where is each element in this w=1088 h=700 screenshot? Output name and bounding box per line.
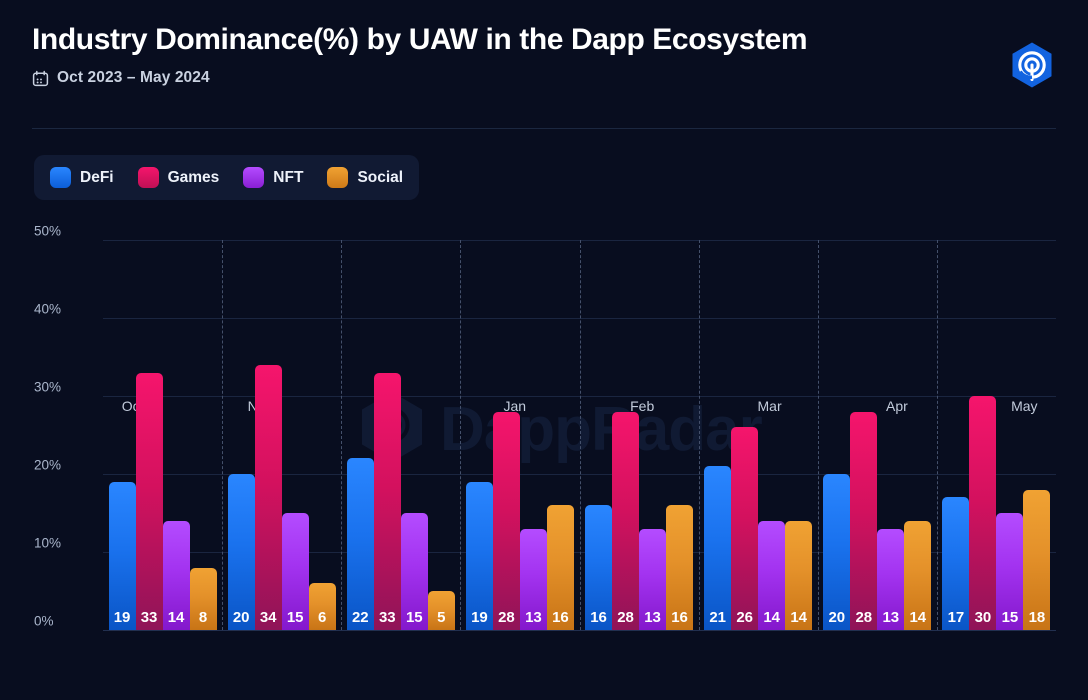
- bar-value-label: 28: [493, 610, 520, 626]
- y-axis-tick-label: 40%: [34, 302, 94, 317]
- legend-label-social: Social: [357, 169, 403, 187]
- bar-rect: 20: [823, 474, 850, 630]
- bar-group: 2233155: [341, 240, 460, 630]
- bar-value-label: 20: [823, 610, 850, 626]
- bar-games[interactable]: 34: [255, 240, 282, 630]
- bar-defi[interactable]: 19: [109, 240, 136, 630]
- bar-social[interactable]: 18: [1023, 240, 1050, 630]
- bar-group: 20281314: [818, 240, 937, 630]
- y-axis-tick-label: 0%: [34, 614, 94, 629]
- bar-value-label: 15: [996, 610, 1023, 626]
- bar-games[interactable]: 28: [612, 240, 639, 630]
- date-range-row: Oct 2023 – May 2024: [32, 69, 1056, 87]
- bar-group: 19281316: [460, 240, 579, 630]
- bar-defi[interactable]: 20: [228, 240, 255, 630]
- bar-nft[interactable]: 14: [163, 240, 190, 630]
- bar-value-label: 16: [585, 610, 612, 626]
- bar-rect: 18: [1023, 490, 1050, 630]
- bar-defi[interactable]: 19: [466, 240, 493, 630]
- bar-rect: 6: [309, 583, 336, 630]
- bar-rect: 16: [585, 505, 612, 630]
- bar-rect: 28: [493, 412, 520, 630]
- bar-value-label: 13: [639, 610, 666, 626]
- bar-group: 1933148: [103, 240, 222, 630]
- axis-baseline: [103, 630, 1056, 631]
- bar-social[interactable]: 14: [904, 240, 931, 630]
- legend-label-games: Games: [168, 169, 220, 187]
- bar-rect: 19: [466, 482, 493, 630]
- bar-rect: 28: [850, 412, 877, 630]
- bar-games[interactable]: 33: [136, 240, 163, 630]
- chart-legend: DeFi Games NFT Social: [34, 155, 419, 200]
- bar-value-label: 20: [228, 610, 255, 626]
- bar-group: 21261414: [699, 240, 818, 630]
- bar-value-label: 21: [704, 610, 731, 626]
- bar-rect: 13: [639, 529, 666, 630]
- bar-value-label: 19: [466, 610, 493, 626]
- header-divider: [32, 128, 1056, 129]
- bar-value-label: 28: [612, 610, 639, 626]
- bar-rect: 16: [666, 505, 693, 630]
- bar-social[interactable]: 16: [547, 240, 574, 630]
- bar-nft[interactable]: 13: [877, 240, 904, 630]
- bar-nft[interactable]: 15: [996, 240, 1023, 630]
- bar-nft[interactable]: 14: [758, 240, 785, 630]
- bar-rect: 20: [228, 474, 255, 630]
- legend-item-nft[interactable]: NFT: [243, 167, 327, 188]
- legend-label-defi: DeFi: [80, 169, 114, 187]
- bar-group: 16281316: [580, 240, 699, 630]
- bar-group: 17301518: [937, 240, 1056, 630]
- bar-rect: 21: [704, 466, 731, 630]
- bar-social[interactable]: 14: [785, 240, 812, 630]
- bar-value-label: 16: [547, 610, 574, 626]
- bar-rect: 26: [731, 427, 758, 630]
- bar-rect: 15: [282, 513, 309, 630]
- bar-rect: 30: [969, 396, 996, 630]
- bar-value-label: 19: [109, 610, 136, 626]
- legend-item-defi[interactable]: DeFi: [50, 167, 138, 188]
- bar-social[interactable]: 8: [190, 240, 217, 630]
- bar-value-label: 15: [401, 610, 428, 626]
- bar-value-label: 18: [1023, 610, 1050, 626]
- bar-games[interactable]: 33: [374, 240, 401, 630]
- legend-item-social[interactable]: Social: [327, 167, 403, 188]
- y-axis-tick-label: 10%: [34, 536, 94, 551]
- bar-social[interactable]: 5: [428, 240, 455, 630]
- bar-value-label: 6: [309, 610, 336, 626]
- bar-games[interactable]: 28: [850, 240, 877, 630]
- bar-rect: 5: [428, 591, 455, 630]
- bar-value-label: 22: [347, 610, 374, 626]
- bar-value-label: 14: [758, 610, 785, 626]
- plot-inner: DappRadar 193314820341562233155192813161…: [103, 240, 1056, 630]
- bar-nft[interactable]: 15: [401, 240, 428, 630]
- bar-groups: 1933148203415622331551928131616281316212…: [103, 240, 1056, 630]
- bar-rect: 28: [612, 412, 639, 630]
- bar-value-label: 13: [520, 610, 547, 626]
- bar-rect: 14: [758, 521, 785, 630]
- bar-rect: 14: [785, 521, 812, 630]
- bar-rect: 15: [996, 513, 1023, 630]
- bar-nft[interactable]: 13: [520, 240, 547, 630]
- bar-value-label: 14: [785, 610, 812, 626]
- bar-rect: 34: [255, 365, 282, 630]
- bar-value-label: 30: [969, 610, 996, 626]
- bar-value-label: 14: [904, 610, 931, 626]
- legend-label-nft: NFT: [273, 169, 303, 187]
- date-range-label: Oct 2023 – May 2024: [57, 69, 210, 87]
- bar-rect: 13: [520, 529, 547, 630]
- bar-rect: 15: [401, 513, 428, 630]
- bar-rect: 33: [136, 373, 163, 630]
- bar-value-label: 8: [190, 610, 217, 626]
- bar-rect: 14: [163, 521, 190, 630]
- bar-value-label: 33: [136, 610, 163, 626]
- bar-social[interactable]: 16: [666, 240, 693, 630]
- bar-value-label: 17: [942, 610, 969, 626]
- bar-games[interactable]: 30: [969, 240, 996, 630]
- bar-rect: 8: [190, 568, 217, 630]
- bar-rect: 17: [942, 497, 969, 630]
- chart-header: Industry Dominance(%) by UAW in the Dapp…: [32, 20, 1056, 87]
- bar-defi[interactable]: 21: [704, 240, 731, 630]
- bar-rect: 13: [877, 529, 904, 630]
- bar-value-label: 13: [877, 610, 904, 626]
- bar-group: 2034156: [222, 240, 341, 630]
- bar-games[interactable]: 26: [731, 240, 758, 630]
- games-swatch: [138, 167, 159, 188]
- calendar-icon: [32, 70, 49, 87]
- page-title: Industry Dominance(%) by UAW in the Dapp…: [32, 20, 1056, 60]
- y-axis-tick-label: 50%: [34, 224, 94, 239]
- bar-rect: 22: [347, 458, 374, 630]
- bar-defi[interactable]: 16: [585, 240, 612, 630]
- chart-page: Industry Dominance(%) by UAW in the Dapp…: [0, 0, 1088, 700]
- bar-value-label: 26: [731, 610, 758, 626]
- defi-swatch: [50, 167, 71, 188]
- bar-value-label: 28: [850, 610, 877, 626]
- bar-value-label: 34: [255, 610, 282, 626]
- social-swatch: [327, 167, 348, 188]
- bar-rect: 16: [547, 505, 574, 630]
- bar-nft[interactable]: 15: [282, 240, 309, 630]
- nft-swatch: [243, 167, 264, 188]
- chart-plot-area: 0%10%20%30%40%50% DappRadar 193314820341…: [34, 240, 1056, 630]
- bar-value-label: 16: [666, 610, 693, 626]
- bar-defi[interactable]: 17: [942, 240, 969, 630]
- bar-defi[interactable]: 22: [347, 240, 374, 630]
- bar-defi[interactable]: 20: [823, 240, 850, 630]
- bar-rect: 19: [109, 482, 136, 630]
- dappradar-logo-icon: [1004, 38, 1060, 94]
- bar-nft[interactable]: 13: [639, 240, 666, 630]
- legend-item-games[interactable]: Games: [138, 167, 244, 188]
- bar-value-label: 33: [374, 610, 401, 626]
- bar-games[interactable]: 28: [493, 240, 520, 630]
- bar-rect: 14: [904, 521, 931, 630]
- y-axis-tick-label: 20%: [34, 458, 94, 473]
- y-axis-tick-label: 30%: [34, 380, 94, 395]
- bar-value-label: 14: [163, 610, 190, 626]
- bar-rect: 33: [374, 373, 401, 630]
- bar-value-label: 5: [428, 610, 455, 626]
- bar-social[interactable]: 6: [309, 240, 336, 630]
- bar-value-label: 15: [282, 610, 309, 626]
